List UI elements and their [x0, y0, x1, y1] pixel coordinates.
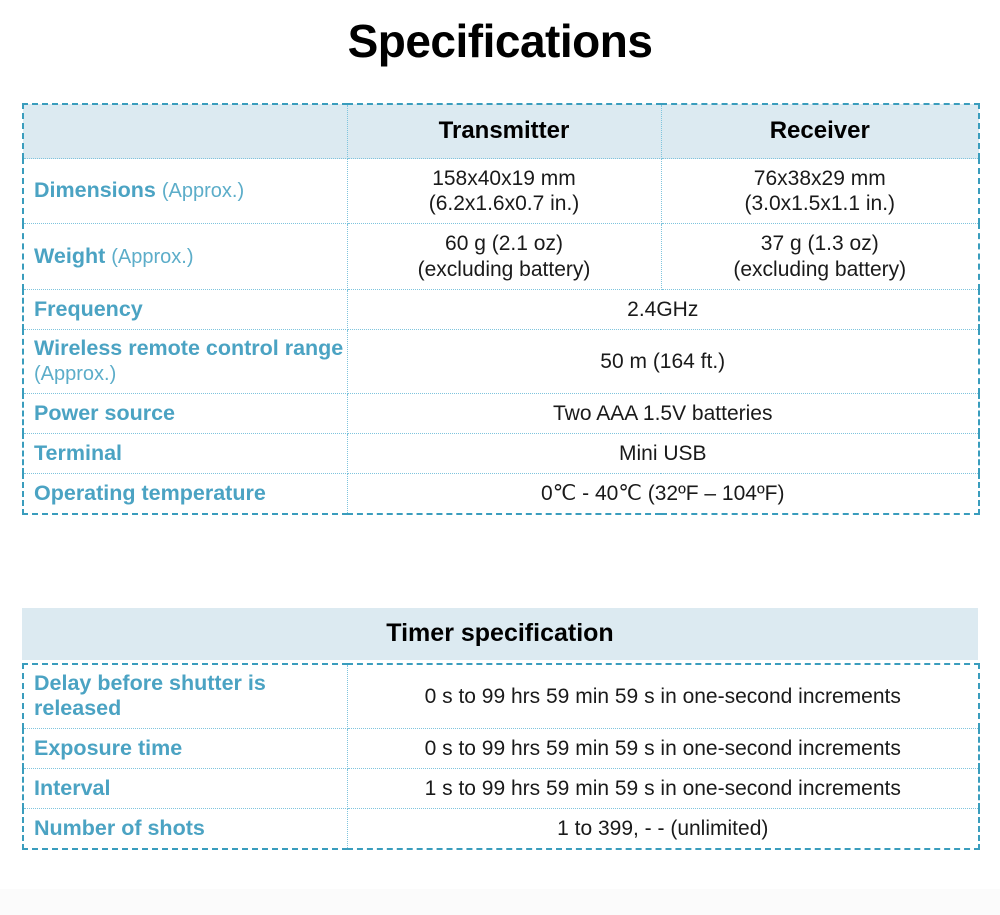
- page-title: Specifications: [0, 0, 1000, 64]
- cell-terminal-value: Mini USB: [347, 434, 979, 474]
- row-label-frequency: Frequency: [23, 289, 347, 329]
- label-text: Terminal: [34, 441, 122, 465]
- row-label-operating-temperature: Operating temperature: [23, 474, 347, 515]
- cell-delay-before-shutter-value: 0 s to 99 hrs 59 min 59 s in one-second …: [347, 664, 979, 728]
- label-text: Operating temperature: [34, 481, 266, 505]
- row-label-delay-before-shutter: Delay before shutter is released: [23, 664, 347, 728]
- specifications-table: Transmitter Receiver Dimensions (Approx.…: [22, 103, 980, 515]
- row-label-number-of-shots: Number of shots: [23, 809, 347, 850]
- label-text: Power source: [34, 401, 175, 425]
- label-text: Weight: [34, 244, 105, 268]
- page-bottom-band: [0, 889, 1000, 915]
- table-row: Frequency 2.4GHz: [23, 289, 979, 329]
- cell-dimensions-receiver: 76x38x29 mm (3.0x1.5x1.1 in.): [661, 159, 979, 224]
- table-row: Wireless remote control range (Approx.) …: [23, 329, 979, 393]
- table-row: Terminal Mini USB: [23, 434, 979, 474]
- table-row: Exposure time 0 s to 99 hrs 59 min 59 s …: [23, 728, 979, 768]
- cell-exposure-time-value: 0 s to 99 hrs 59 min 59 s in one-second …: [347, 728, 979, 768]
- row-label-weight: Weight (Approx.): [23, 224, 347, 289]
- table-row: Dimensions (Approx.) 158x40x19 mm (6.2x1…: [23, 159, 979, 224]
- cell-wireless-range-value: 50 m (164 ft.): [347, 329, 979, 393]
- value-line: 158x40x19 mm: [354, 166, 655, 191]
- table-row: Interval 1 s to 99 hrs 59 min 59 s in on…: [23, 768, 979, 808]
- label-approx: (Approx.): [111, 246, 193, 268]
- row-label-dimensions: Dimensions (Approx.): [23, 159, 347, 224]
- value-line: (excluding battery): [668, 257, 973, 282]
- specifications-page: Specifications Transmitter Receiver Dime…: [0, 0, 1000, 915]
- timer-section-header: Timer specification: [22, 608, 978, 660]
- value-line: 37 g (1.3 oz): [668, 231, 973, 256]
- row-label-wireless-range: Wireless remote control range (Approx.): [23, 329, 347, 393]
- table-row: Weight (Approx.) 60 g (2.1 oz) (excludin…: [23, 224, 979, 289]
- timer-table-wrapper: Delay before shutter is released 0 s to …: [22, 663, 978, 850]
- cell-operating-temperature-value: 0℃ - 40℃ (32ºF – 104ºF): [347, 474, 979, 515]
- cell-interval-value: 1 s to 99 hrs 59 min 59 s in one-second …: [347, 768, 979, 808]
- label-approx: (Approx.): [34, 363, 116, 385]
- label-text: Frequency: [34, 297, 143, 321]
- timer-specification-table: Delay before shutter is released 0 s to …: [22, 663, 980, 850]
- row-label-terminal: Terminal: [23, 434, 347, 474]
- label-approx: (Approx.): [162, 180, 244, 202]
- cell-dimensions-transmitter: 158x40x19 mm (6.2x1.6x0.7 in.): [347, 159, 661, 224]
- table-row: Delay before shutter is released 0 s to …: [23, 664, 979, 728]
- value-line: (6.2x1.6x0.7 in.): [354, 191, 655, 216]
- table-row: Operating temperature 0℃ - 40℃ (32ºF – 1…: [23, 474, 979, 515]
- cell-number-of-shots-value: 1 to 399, - - (unlimited): [347, 809, 979, 850]
- header-cell-receiver: Receiver: [661, 104, 979, 159]
- header-cell-blank: [23, 104, 347, 159]
- label-text: Wireless remote control range: [34, 336, 343, 360]
- label-text: Dimensions: [34, 178, 156, 202]
- value-line: 60 g (2.1 oz): [354, 231, 655, 256]
- table-row: Power source Two AAA 1.5V batteries: [23, 393, 979, 433]
- table-row: Number of shots 1 to 399, - - (unlimited…: [23, 809, 979, 850]
- value-line: (3.0x1.5x1.1 in.): [668, 191, 973, 216]
- value-line: 76x38x29 mm: [668, 166, 973, 191]
- row-label-interval: Interval: [23, 768, 347, 808]
- row-label-exposure-time: Exposure time: [23, 728, 347, 768]
- specifications-table-wrapper: Transmitter Receiver Dimensions (Approx.…: [22, 103, 978, 515]
- cell-frequency-value: 2.4GHz: [347, 289, 979, 329]
- value-line: (excluding battery): [354, 257, 655, 282]
- timer-section-header-wrapper: Timer specification: [22, 608, 978, 660]
- cell-weight-transmitter: 60 g (2.1 oz) (excluding battery): [347, 224, 661, 289]
- cell-weight-receiver: 37 g (1.3 oz) (excluding battery): [661, 224, 979, 289]
- header-cell-transmitter: Transmitter: [347, 104, 661, 159]
- row-label-power-source: Power source: [23, 393, 347, 433]
- cell-power-source-value: Two AAA 1.5V batteries: [347, 393, 979, 433]
- table-header-row: Transmitter Receiver: [23, 104, 979, 159]
